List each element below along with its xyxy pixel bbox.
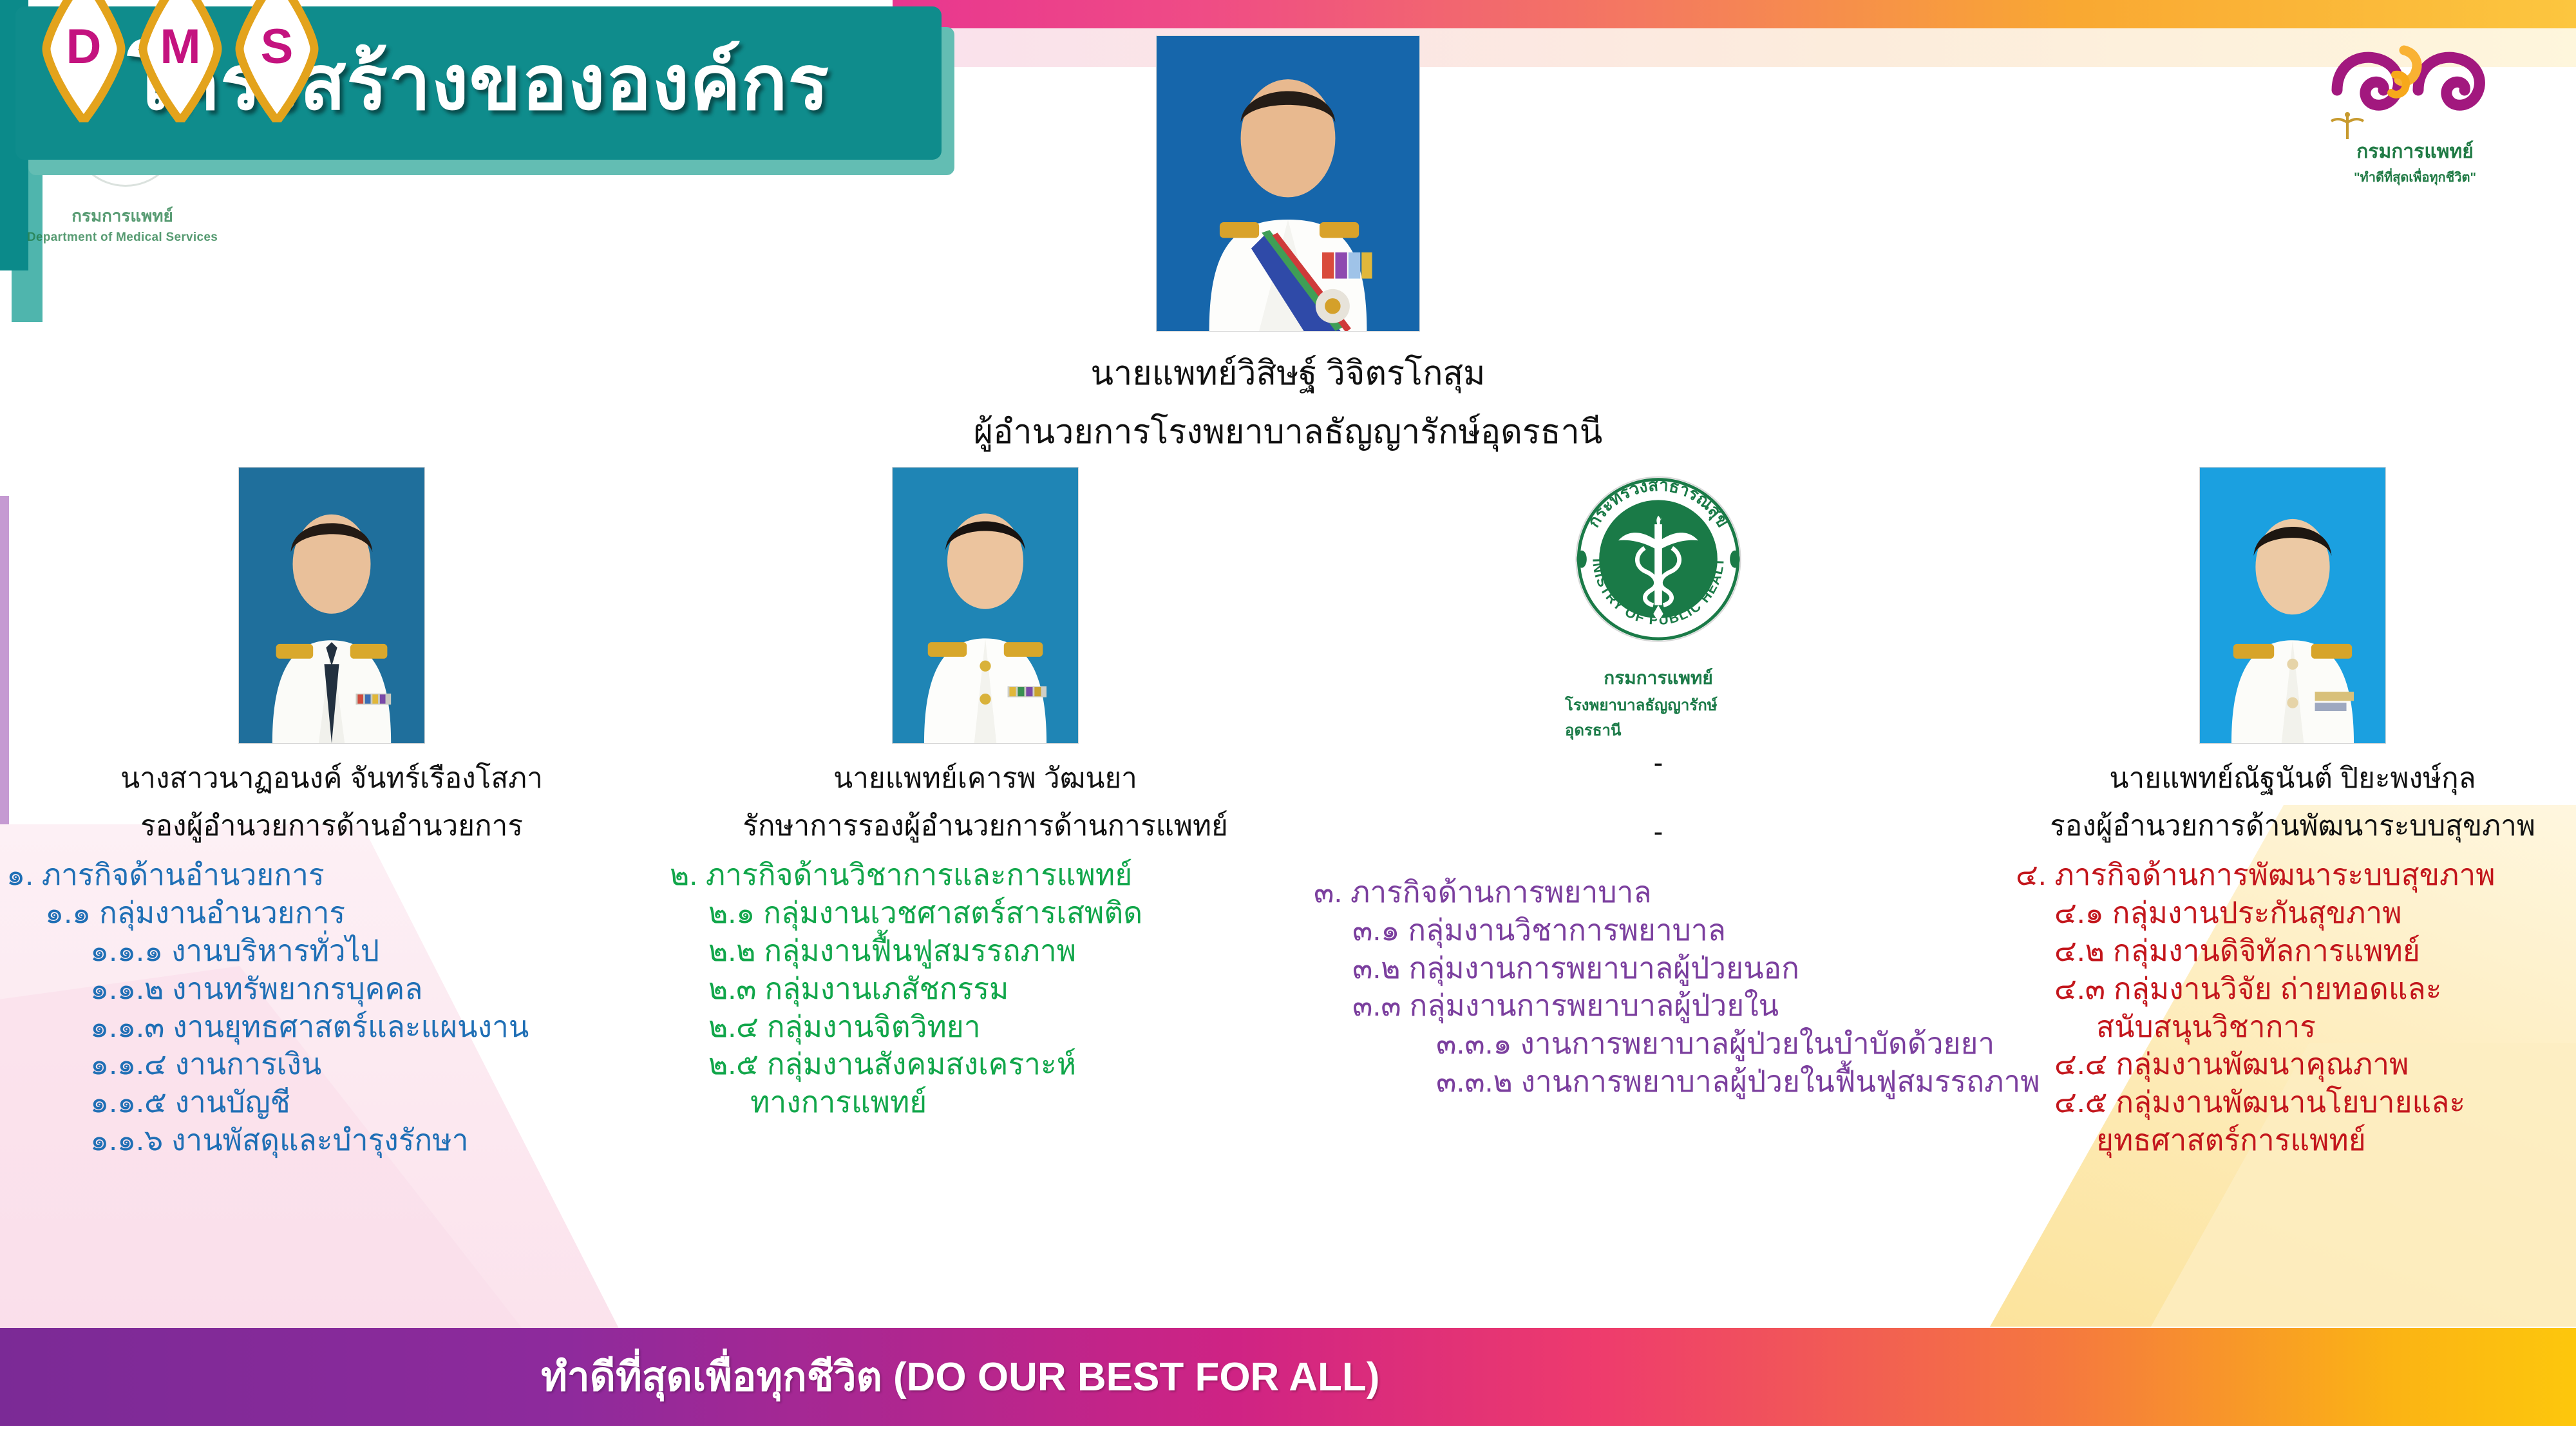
list-item: ๔.๒ กลุ่มงานดิจิทัลการแพทย์ [2016, 932, 2570, 970]
person-name: - [1654, 744, 1663, 782]
list-item: ๒.๕ กลุ่มงานสังคมสงเคราะห์ [670, 1045, 1301, 1083]
dms-letter-marks: D M S [39, 0, 328, 122]
list-item: สนับสนุนวิชาการ [2016, 1008, 2570, 1046]
list-item: ๒.๑ กลุ่มงานเวชศาสตร์สารเสพติด [670, 894, 1301, 932]
list-item: ๒.๔ กลุ่มงานจิตวิทยา [670, 1008, 1301, 1046]
dms-letter: D [66, 19, 102, 74]
director-role: ผู้อำนวยการโรงพยาบาลธัญญารักษ์อุดรธานี [974, 404, 1603, 458]
ministry-of-public-health-seal-icon: กระทรวงสาธารณสุข MINISTRY OF PUBLIC HEAL… [1565, 467, 1752, 660]
dms-mark-m: M [135, 0, 225, 122]
deputy-health-system-photo [2199, 467, 2386, 744]
dms-letter: S [261, 19, 294, 74]
list-item: ๔.๓ กลุ่มงานวิจัย ถ่ายทอดและ [2016, 970, 2570, 1008]
task-list: ๑. ภารกิจด้านอำนวยการ ๑.๑ กลุ่มงานอำนวยก… [0, 856, 663, 1159]
watermark-english-label: Department of Medical Services [27, 231, 218, 245]
org-columns: นางสาวนาฏอนงค์ จันทร์เรืองโสภา รองผู้อำน… [0, 467, 2576, 1317]
list-item: ยุทธศาสตร์การแพทย์ [2016, 1121, 2570, 1159]
person-role: รองผู้อำนวยการด้านพัฒนาระบบสุขภาพ [2050, 803, 2535, 848]
list-item: ๑.๑.๓ งานยุทธศาสตร์และแผนงาน [6, 1008, 657, 1046]
list-item: ๓.๓.๑ งานการพยาบาลผู้ป่วยในบำบัดด้วยยา [1314, 1025, 2003, 1063]
dms-mark-d: D [39, 0, 129, 122]
deputy-admin-photo [238, 467, 425, 744]
task-list: ๓. ภารกิจด้านการพยาบาล ๓.๑ กลุ่มงานวิชาก… [1307, 873, 2009, 1101]
list-item: ๒. ภารกิจด้านวิชาการและการแพทย์ [670, 856, 1301, 894]
acting-deputy-medical-photo [892, 467, 1079, 744]
watermark-thai-label: กรมการแพทย์ [71, 203, 173, 229]
hospital-seal-block: กระทรวงสาธารณสุข MINISTRY OF PUBLIC HEAL… [1565, 467, 1752, 744]
column-nursing: กระทรวงสาธารณสุข MINISTRY OF PUBLIC HEAL… [1307, 467, 2009, 1317]
dms-brand-logo: กรมการแพทย์ "ทำดีที่สุดเพื่อทุกชีวิต" [2318, 45, 2512, 193]
task-list: ๒. ภารกิจด้านวิชาการและการแพทย์ ๒.๑ กลุ่… [663, 856, 1307, 1121]
list-item: ๒.๒ กลุ่มงานฟื้นฟูสมรรถภาพ [670, 932, 1301, 970]
column-admin: นางสาวนาฏอนงค์ จันทร์เรืองโสภา รองผู้อำน… [0, 467, 663, 1317]
person-role: รักษาการรองผู้อำนวยการด้านการแพทย์ [743, 803, 1227, 848]
top-gradient-strip [893, 0, 2576, 28]
brand-thai-label: กรมการแพทย์ [2356, 137, 2474, 167]
footer-tagline: ทำดีที่สุดเพื่อทุกชีวิต (DO OUR BEST FOR… [541, 1345, 1379, 1408]
footer-banner: ทำดีที่สุดเพื่อทุกชีวิต (DO OUR BEST FOR… [0, 1328, 2576, 1426]
person-role: รองผู้อำนวยการด้านอำนวยการ [140, 803, 523, 848]
person-name: นายแพทย์เคารพ วัฒนยา [833, 755, 1137, 800]
person-name: นายแพทย์ณัฐนันต์ ปิยะพงษ์กุล [2109, 755, 2476, 800]
brand-slogan: "ทำดีที่สุดเพื่อทุกชีวิต" [2354, 167, 2476, 187]
slide-root: OF PUBLIC กรมการแพทย์ Department of Medi… [0, 0, 2576, 1449]
person-name: นางสาวนาฏอนงค์ จันทร์เรืองโสภา [120, 755, 543, 800]
seal-caption-thai: กรมการแพทย์ [1604, 664, 1713, 692]
column-health-system: นายแพทย์ณัฐนันต์ ปิยะพงษ์กุล รองผู้อำนวย… [2009, 467, 2576, 1317]
list-item: ๓.๓ กลุ่มงานการพยาบาลผู้ป่วยใน [1314, 987, 2003, 1025]
list-item: ๓.๓.๒ งานการพยาบาลผู้ป่วยในฟื้นฟูสมรรถภา… [1314, 1063, 2003, 1101]
director-block: นายแพทย์วิสิษฐ์ วิจิตรโกสุม ผู้อำนวยการโ… [1088, 35, 1488, 458]
list-item: ๔.๕ กลุ่มงานพัฒนานโยบายและ [2016, 1083, 2570, 1121]
director-photo [1156, 35, 1420, 332]
list-item: ๑.๑.๖ งานพัสดุและบำรุงรักษา [6, 1121, 657, 1159]
column-medical: นายแพทย์เคารพ วัฒนยา รักษาการรองผู้อำนวย… [663, 467, 1307, 1317]
list-item: ๔.๔ กลุ่มงานพัฒนาคุณภาพ [2016, 1045, 2570, 1083]
list-item: ๑.๑.๒ งานทรัพยากรบุคคล [6, 970, 657, 1008]
list-item: ๓.๒ กลุ่มงานการพยาบาลผู้ป่วยนอก [1314, 949, 2003, 987]
list-item: ๑.๑ กลุ่มงานอำนวยการ [6, 894, 657, 932]
list-item: ๑. ภารกิจด้านอำนวยการ [6, 856, 657, 894]
person-role: - [1654, 813, 1663, 851]
list-item: ๒.๓ กลุ่มงานเภสัชกรรม [670, 970, 1301, 1008]
list-item: ๓.๑ กลุ่มงานวิชาการพยาบาล [1314, 911, 2003, 949]
dms-letter: M [160, 19, 200, 74]
director-name: นายแพทย์วิสิษฐ์ วิจิตรโกสุม [1091, 346, 1486, 399]
seal-caption-sub: โรงพยาบาลธัญญารักษ์อุดรธานี [1565, 692, 1752, 743]
list-item: ๑.๑.๑ งานบริหารทั่วไป [6, 932, 657, 970]
list-item: ทางการแพทย์ [670, 1083, 1301, 1121]
list-item: ๔.๑ กลุ่มงานประกันสุขภาพ [2016, 894, 2570, 932]
list-item: ๑.๑.๕ งานบัญชี [6, 1083, 657, 1121]
caduceus-icon [2327, 112, 2367, 142]
list-item: ๓. ภารกิจด้านการพยาบาล [1314, 873, 2003, 911]
task-list: ๔. ภารกิจด้านการพัฒนาระบบสุขภาพ ๔.๑ กลุ่… [2009, 856, 2576, 1159]
dms-mark-s: S [232, 0, 322, 122]
list-item: ๑.๑.๔ งานการเงิน [6, 1045, 657, 1083]
list-item: ๔. ภารกิจด้านการพัฒนาระบบสุขภาพ [2016, 856, 2570, 894]
